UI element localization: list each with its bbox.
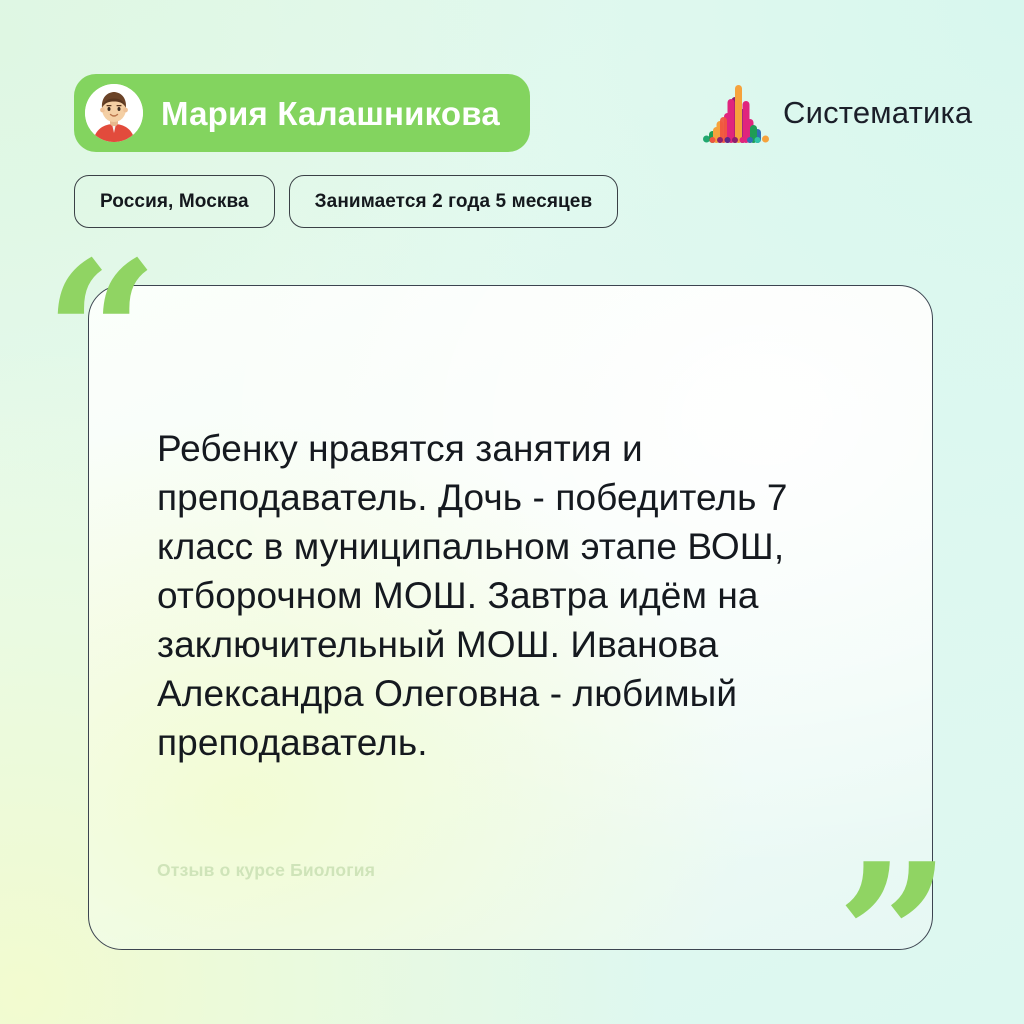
- histogram-bars-logo-icon: [703, 77, 769, 149]
- course-note: Отзыв о курсе Биология: [157, 860, 375, 881]
- profile-name: Мария Калашникова: [161, 97, 500, 130]
- pill-duration: Занимается 2 года 5 месяцев: [289, 175, 619, 228]
- review-quote-text: Ребенку нравятся занятия и преподаватель…: [157, 424, 877, 767]
- quote-open-icon: “: [44, 236, 159, 436]
- brand-logo: Систематика: [703, 76, 972, 150]
- quote-close-icon: ”: [836, 838, 951, 1024]
- review-card-canvas: Мария Калашникова: [0, 0, 1024, 1024]
- avatar: [85, 84, 143, 142]
- profile-name-badge: Мария Калашникова: [74, 74, 530, 152]
- brand-name: Систематика: [783, 95, 972, 131]
